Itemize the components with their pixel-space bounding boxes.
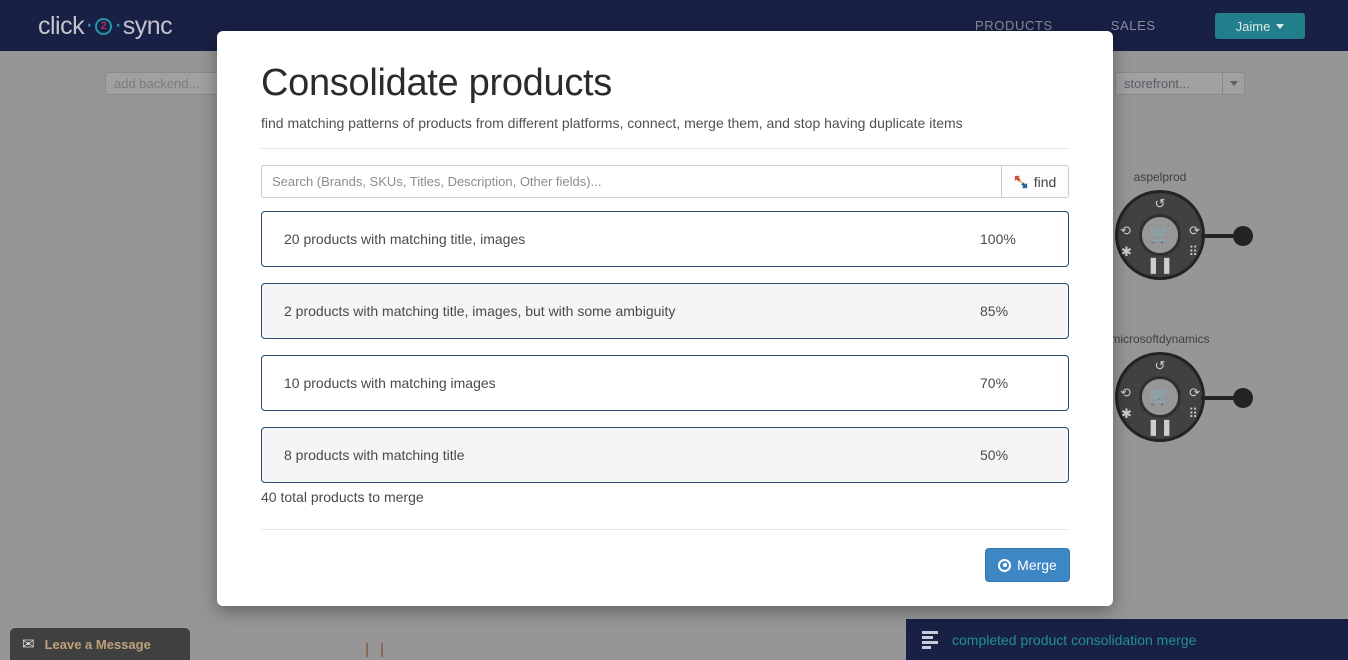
result-label: 2 products with matching title, images, … bbox=[284, 303, 980, 319]
match-results-list: 20 products with matching title, images … bbox=[261, 211, 1069, 499]
result-percent: 85% bbox=[980, 303, 1046, 319]
result-label: 10 products with matching images bbox=[284, 375, 980, 391]
total-products-text: 40 total products to merge bbox=[261, 489, 424, 505]
result-row[interactable]: 20 products with matching title, images … bbox=[261, 211, 1069, 267]
find-button-label: find bbox=[1034, 174, 1057, 190]
app-root: add backend... storefront... aspelprod ↺… bbox=[0, 0, 1348, 660]
result-row[interactable]: 2 products with matching title, images, … bbox=[261, 283, 1069, 339]
modal-title: Consolidate products bbox=[261, 62, 612, 105]
merge-button[interactable]: Merge bbox=[985, 548, 1070, 582]
search-row: find bbox=[261, 165, 1069, 198]
result-label: 20 products with matching title, images bbox=[284, 231, 980, 247]
modal-header-divider bbox=[261, 148, 1069, 149]
search-input[interactable] bbox=[261, 165, 1001, 198]
result-row[interactable]: 10 products with matching images 70% bbox=[261, 355, 1069, 411]
compress-arrows-icon bbox=[1014, 175, 1028, 189]
modal-subtitle: find matching patterns of products from … bbox=[261, 115, 963, 131]
merge-button-label: Merge bbox=[1017, 557, 1057, 573]
find-button[interactable]: find bbox=[1001, 165, 1069, 198]
modal-footer-divider bbox=[261, 529, 1069, 530]
result-percent: 70% bbox=[980, 375, 1046, 391]
result-percent: 50% bbox=[980, 447, 1046, 463]
result-row[interactable]: 8 products with matching title 50% bbox=[261, 427, 1069, 483]
bullseye-icon bbox=[998, 559, 1011, 572]
result-label: 8 products with matching title bbox=[284, 447, 980, 463]
result-percent: 100% bbox=[980, 231, 1046, 247]
